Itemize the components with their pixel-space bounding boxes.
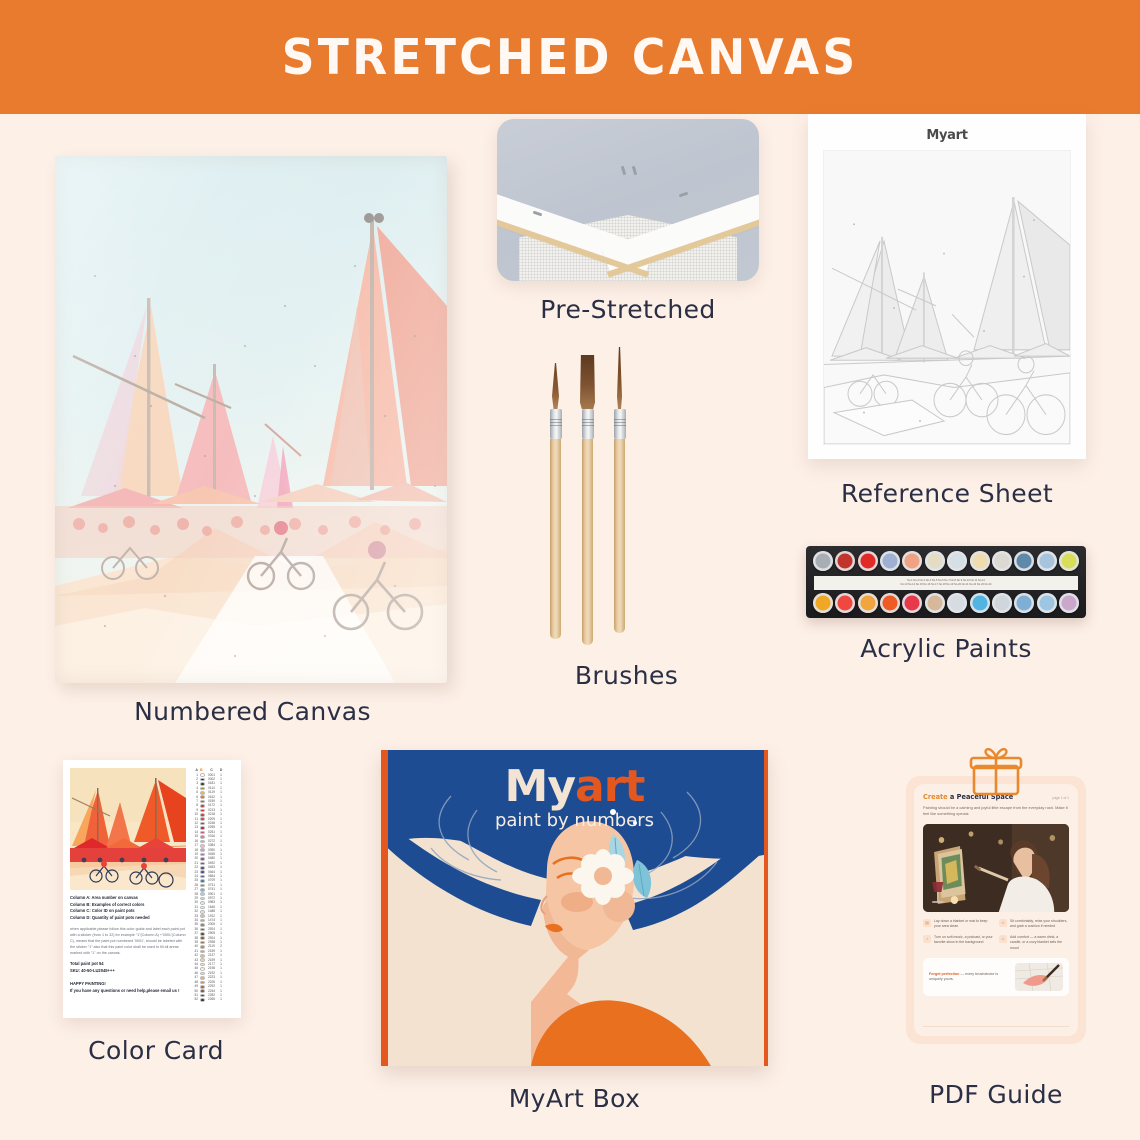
brush-round [550,363,561,639]
row-qty: 1 [218,976,224,979]
row-area: 49 [191,985,200,988]
paint-tray-image: No.1 No.2 No.3 No.4 No.5 No.6 No.7 No.8 … [806,546,1086,618]
row-colorid: 0384 [205,844,218,847]
row-qty: 1 [218,835,224,838]
paint-pot [947,593,967,613]
row-colorid: 2137 [205,954,218,957]
tip-icon-chair: ☺ [999,919,1007,927]
paint-pot [992,593,1012,613]
paint-pot [1014,551,1034,571]
caption-pre-stretched: Pre-Stretched [497,295,759,324]
callout-bold: Forget perfection [929,972,959,976]
paint-pot [880,593,900,613]
color-card-table: A B C D 10001120002130181140114150119160… [191,768,234,1010]
row-area: 5 [191,791,200,794]
row-colorid: 2223 [205,976,218,979]
page-title: STRETCHED CANVAS [282,29,859,86]
pdf-tip-text: Add comfort — a warm drink, a candle, or… [1010,935,1069,952]
row-qty: 1 [218,932,224,935]
row-qty: 1 [218,813,224,816]
brush-flat [582,355,593,645]
row-qty: 1 [218,985,224,988]
row-colorid: 2292 [205,985,218,988]
pdf-tip-item: ♨ Add comfort — a warm drink, a candle, … [999,935,1069,952]
color-card-contact: If you have any questions or need help,p… [70,988,186,995]
page-header: STRETCHED CANVAS [0,0,1140,114]
color-card-sku: SKU: 40-50-LU2045+++ [70,968,186,975]
paint-pot [1059,551,1079,571]
paint-pot [858,551,878,571]
pdf-tip-text: Turn on soft music, a podcast, or your f… [934,935,993,952]
paint-pot [1037,593,1057,613]
tip-icon-music: ♪ [923,935,931,943]
color-card-total: Total paint pot 54 [70,961,186,968]
pdf-subtitle: Painting should be a calming and joyful … [923,805,1069,818]
paint-pot [1059,593,1079,613]
row-area: 27 [191,888,200,891]
legend-b: Column B: Examples of correct colors [70,902,144,907]
row-area: 10 [191,813,200,816]
col-d: D [218,768,224,772]
caption-reference-sheet: Reference Sheet [808,479,1086,508]
paint-pot [902,593,922,613]
caption-myart-box: MyArt Box [381,1084,768,1113]
pdf-page-label: page 1 of 1 [1053,796,1070,800]
legend-a: Column A: Area number on canvas [70,895,138,900]
row-qty: 1 [218,888,224,891]
paint-pot [902,551,922,571]
logo-subtitle: paint by numbers [381,810,768,831]
paint-pot [835,593,855,613]
color-card-note: when applicable,please follow this color… [70,926,186,957]
numbered-canvas-image [55,156,447,683]
row-colorid: 0453 [205,866,218,869]
row-colorid: 2265 [205,998,218,1001]
row-colorid: 2905 [205,932,218,935]
pdf-photo [923,824,1069,912]
row-area: 47 [191,976,200,979]
row-area: 52 [191,998,200,1001]
paint-pot [813,593,833,613]
item-reference-sheet[interactable]: Myart [808,114,1086,508]
item-pre-stretched[interactable]: Pre-Stretched [497,119,759,324]
item-myart-box[interactable]: Myart paint by numbers MyArt Box [381,750,768,1113]
caption-color-card: Color Card [71,1036,241,1065]
tip-icon-drink: ♨ [999,935,1007,943]
callout-image [1015,963,1063,991]
myart-box-image: Myart paint by numbers [381,750,768,1066]
col-c: C [205,768,218,772]
pdf-tip-text: Sit comfortably, relax your shoulders, a… [1010,919,1069,930]
row-area: 15 [191,835,200,838]
col-a: A [191,768,200,772]
pdf-callout: Forget perfection — every brushstroke is… [923,958,1069,996]
reference-sheet-image: Myart [808,114,1086,459]
row-qty: 1 [218,954,224,957]
row-qty: 1 [218,998,224,1001]
color-card-happy: HAPPY PAINTING! [70,981,186,988]
paint-pot [925,593,945,613]
row-colorid: 0119 [205,791,218,794]
caption-pdf-guide: PDF Guide [906,1080,1086,1109]
row-area: 42 [191,954,200,957]
paint-label-strip: No.1 No.2 No.3 No.4 No.5 No.6 No.7 No.8 … [814,576,1078,590]
myart-logo: Myart paint by numbers [381,761,768,831]
row-area: 32 [191,910,200,913]
paint-pot [835,551,855,571]
item-brushes[interactable]: Brushes [520,342,735,690]
paint-pot [970,593,990,613]
paint-pot [1014,593,1034,613]
paint-pot [947,551,967,571]
item-pdf-guide[interactable]: Create a Peaceful Space page 1 of 1 Pain… [906,750,1086,1109]
paint-row-bottom [811,593,1081,613]
pdf-guide-image: Create a Peaceful Space page 1 of 1 Pain… [906,750,1086,1066]
gift-icon [968,748,1024,796]
pdf-tip-item: ▤ Lay down a blanket or mat to keep your… [923,919,993,930]
row-qty: 1 [218,844,224,847]
row-qty: 1 [218,866,224,869]
row-qty: 1 [218,910,224,913]
brush-liner [614,347,625,633]
color-card-table-head: A B C D [191,768,234,772]
caption-acrylic-paints: Acrylic Paints [806,634,1086,663]
paint-pot [1037,551,1057,571]
row-colorid: 0316 [205,835,218,838]
item-color-card[interactable]: Column A: Area number on canvas Column B… [63,760,241,1065]
row-colorid: 0741 [205,888,218,891]
item-acrylic-paints[interactable]: No.1 No.2 No.3 No.4 No.5 No.6 No.7 No.8 … [806,546,1086,663]
color-card-artwork [70,768,186,890]
item-numbered-canvas[interactable]: Numbered Canvas [55,156,450,726]
paint-pot [880,551,900,571]
paint-row-top [811,551,1081,571]
tip-icon-mat: ▤ [923,919,931,927]
caption-numbered-canvas: Numbered Canvas [55,697,450,726]
row-area: 22 [191,866,200,869]
color-card-row: 5222651 [191,998,234,1002]
pdf-title-accent: Create [923,793,948,801]
row-area: 37 [191,932,200,935]
row-qty: 1 [218,791,224,794]
paint-pot [813,551,833,571]
row-colorid: 1488 [205,910,218,913]
row-area: 17 [191,844,200,847]
paint-pot [970,551,990,571]
pdf-tip-item: ☺ Sit comfortably, relax your shoulders,… [999,919,1069,930]
brushes-image [520,342,735,645]
pdf-tip-item: ♪ Turn on soft music, a podcast, or your… [923,935,993,952]
logo-my: My [505,761,575,812]
legend-c: Column C: Color ID on paint pots [70,908,135,913]
legend-d: Column D: Quantity of paint pots needed [70,915,150,920]
paint-pot [858,593,878,613]
reference-sheet-logo: Myart [926,128,967,143]
logo-art: art [575,761,644,812]
product-grid: Numbered Canvas Pre-Stretched Myart [0,114,1140,1140]
color-card-legend: Column A: Area number on canvas Column B… [70,895,186,922]
paint-pot [925,551,945,571]
pdf-tip-text: Lay down a blanket or mat to keep your a… [934,919,993,930]
color-card-image: Column A: Area number on canvas Column B… [63,760,241,1018]
caption-brushes: Brushes [518,661,735,690]
pdf-tips-list: ▤ Lay down a blanket or mat to keep your… [923,919,1069,952]
pre-stretched-image [497,119,759,281]
paint-pot [992,551,1012,571]
row-colorid: 0218 [205,813,218,816]
